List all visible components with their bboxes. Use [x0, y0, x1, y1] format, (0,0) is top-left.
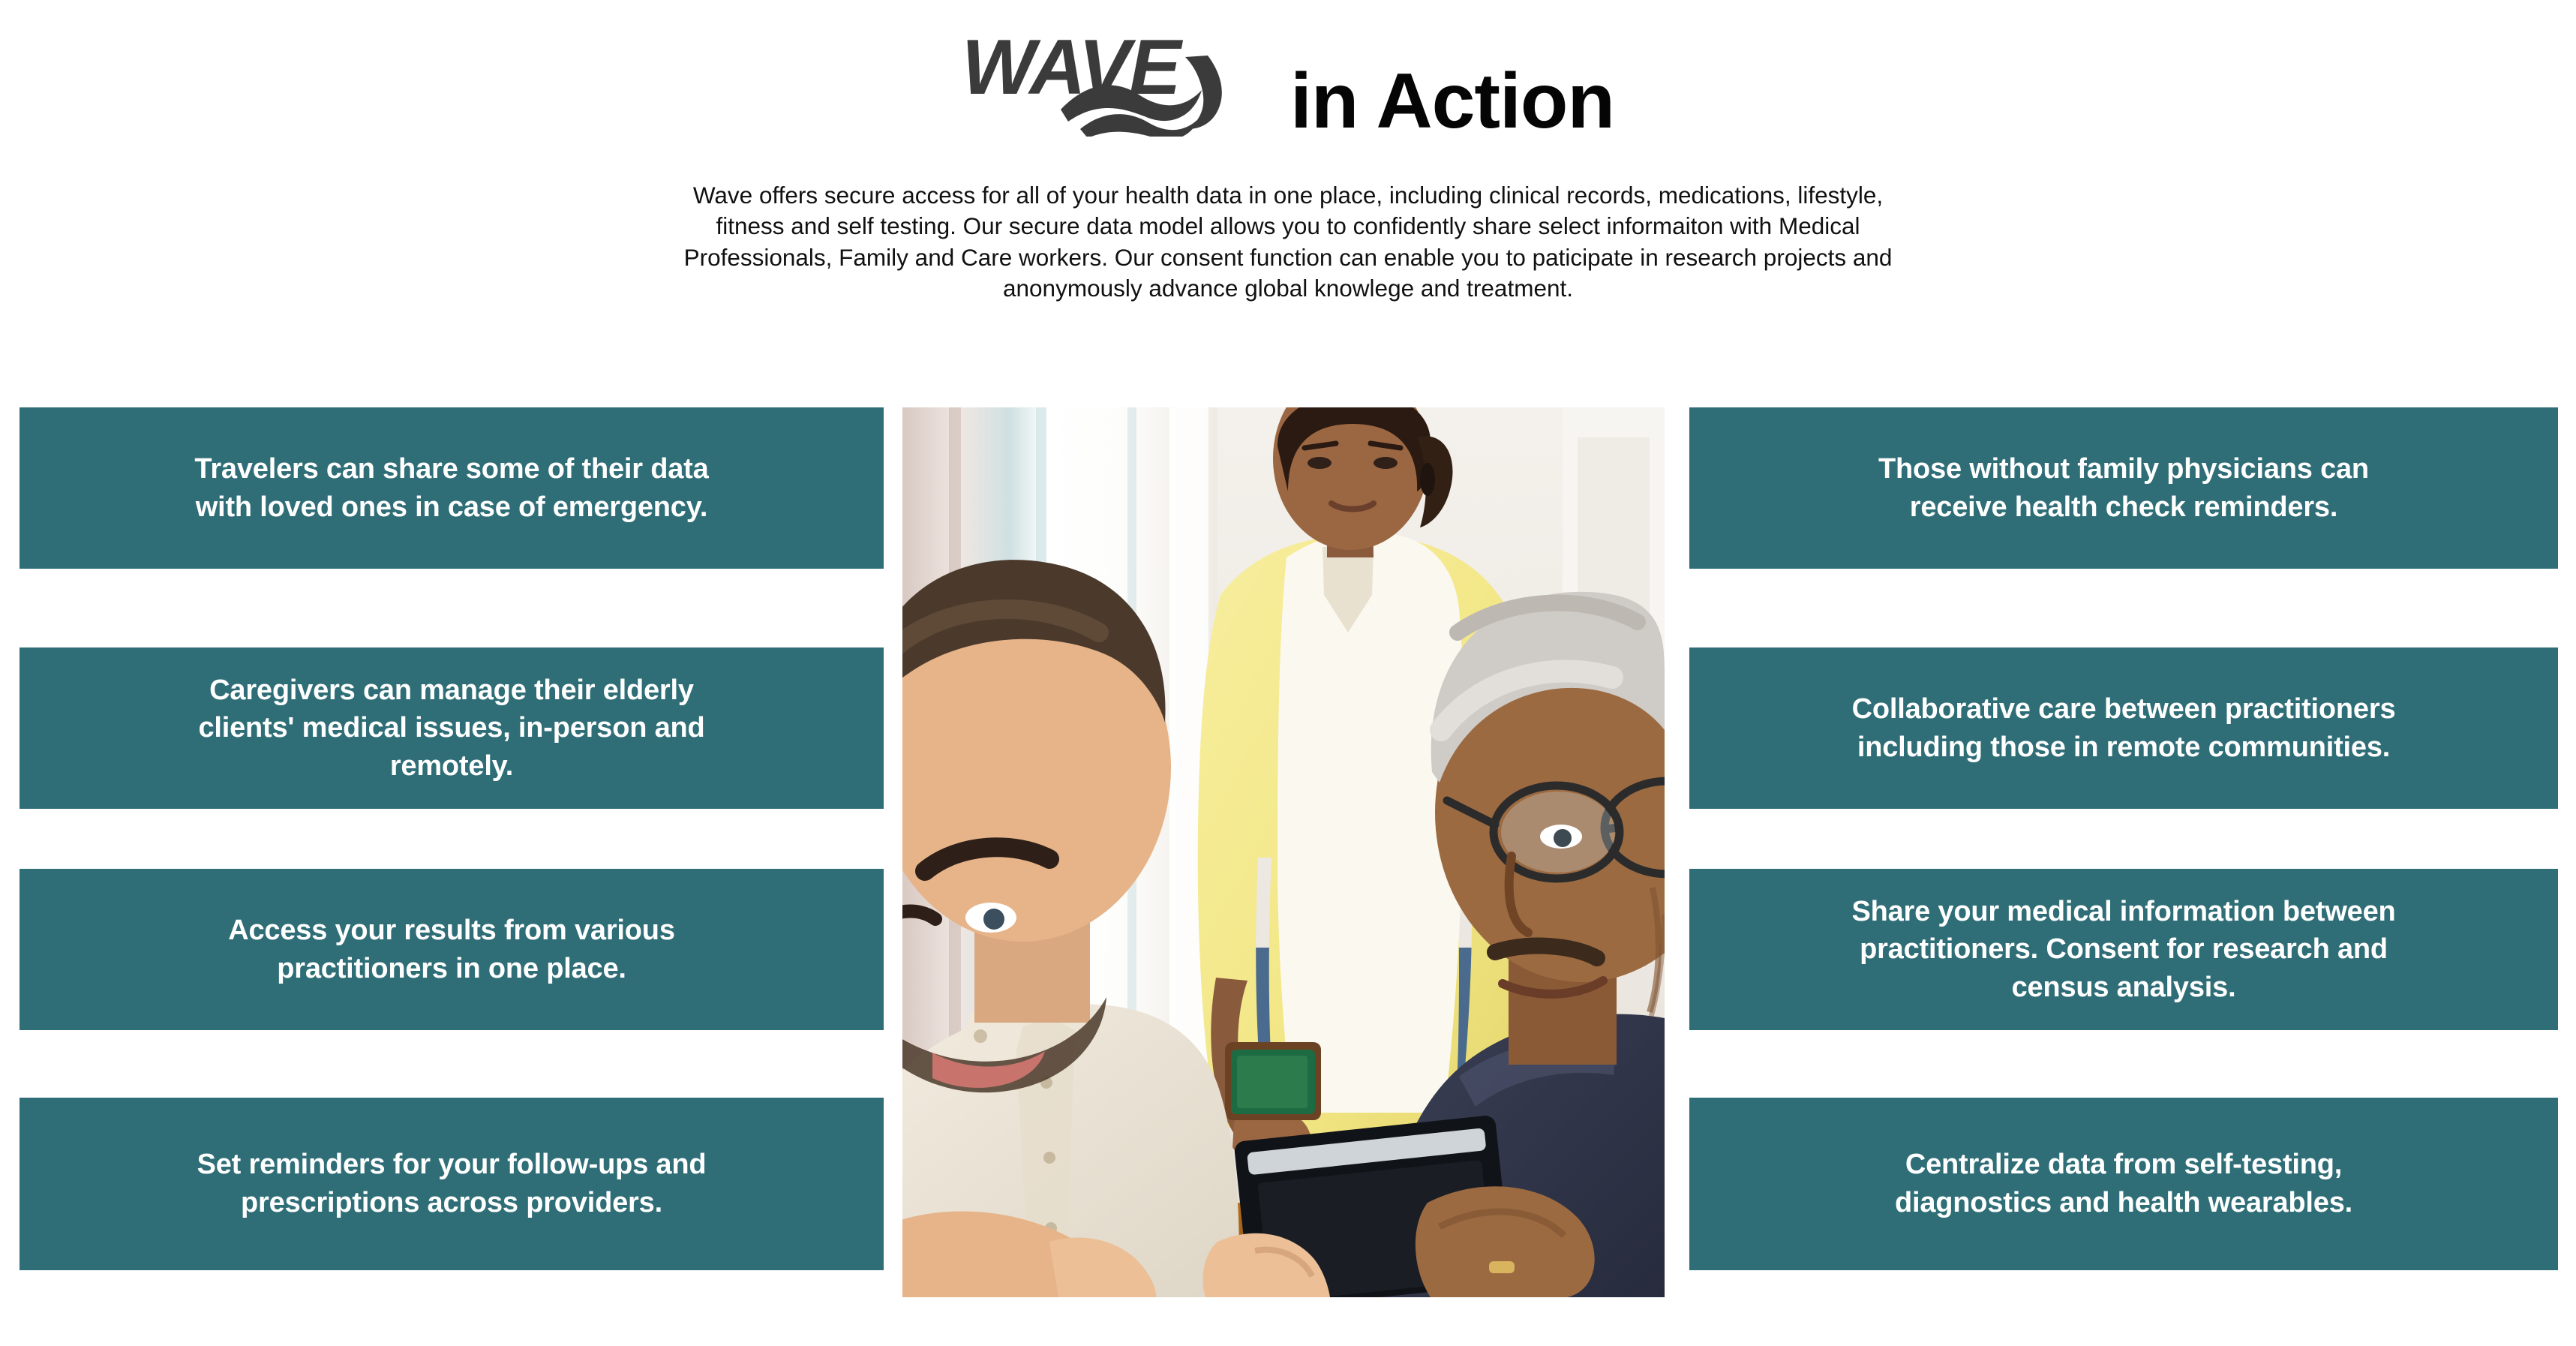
title-lockup: WAVE in Action [962, 15, 1614, 128]
benefit-card-text: Access your results from various practit… [228, 912, 675, 987]
benefit-card-text: Set reminders for your follow-ups and pr… [197, 1146, 707, 1221]
benefit-card-no-family-physician[interactable]: Those without family physicians can rece… [1689, 407, 2558, 569]
benefit-card-reminders[interactable]: Set reminders for your follow-ups and pr… [20, 1098, 884, 1270]
intro-paragraph: Wave offers secure access for all of you… [380, 180, 2196, 304]
benefit-card-text: Caregivers can manage their elderly clie… [198, 671, 704, 786]
benefit-card-centralize-data[interactable]: Centralize data from self-testing, diagn… [1689, 1098, 2558, 1270]
benefit-card-text: Share your medical information between p… [1851, 893, 2395, 1007]
benefit-card-caregivers[interactable]: Caregivers can manage their elderly clie… [20, 647, 884, 809]
benefit-card-collaborative-care[interactable]: Collaborative care between practitioners… [1689, 647, 2558, 809]
wave-logo: WAVE [962, 15, 1277, 128]
benefit-card-text: Centralize data from self-testing, diagn… [1895, 1146, 2352, 1221]
benefit-card-results-access[interactable]: Access your results from various practit… [20, 869, 884, 1030]
right-benefits-column: Those without family physicians can rece… [1689, 407, 2558, 1270]
benefit-card-text: Those without family physicians can rece… [1878, 450, 2369, 526]
photo-illustration [902, 407, 1665, 1297]
benefit-card-text: Travelers can share some of their data w… [194, 450, 708, 526]
left-benefits-column: Travelers can share some of their data w… [20, 407, 884, 1270]
benefit-card-share-information[interactable]: Share your medical information between p… [1689, 869, 2558, 1030]
wave-in-action-page: WAVE in Action Wave offers secure access… [0, 0, 2576, 1346]
benefit-card-travelers[interactable]: Travelers can share some of their data w… [20, 407, 884, 569]
family-consultation-photo [902, 407, 1665, 1297]
page-title: in Action [1290, 62, 1614, 140]
page-header: WAVE in Action [0, 15, 2576, 128]
benefit-card-text: Collaborative care between practitioners… [1852, 690, 2396, 766]
wave-wordmark: WAVE [962, 29, 1180, 107]
